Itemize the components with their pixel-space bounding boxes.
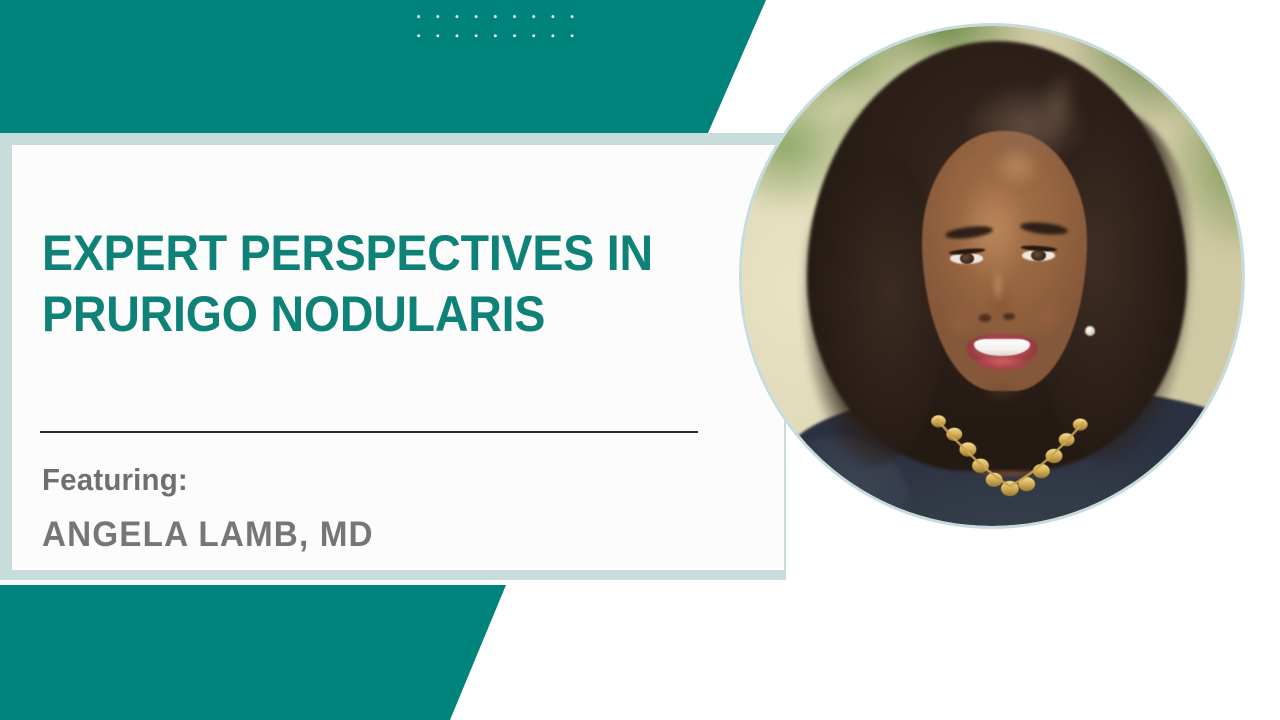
page-title: EXPERT PERSPECTIVES IN PRURIGO NODULARIS [42,223,693,345]
featuring-label: Featuring: [42,461,188,499]
speaker-name: ANGELA LAMB, MD [42,514,374,556]
title-card-inner: EXPERT PERSPECTIVES IN PRURIGO NODULARIS… [12,145,784,570]
teal-band-top [0,0,780,133]
teal-band-bottom [0,585,560,720]
portrait-earring [1085,326,1095,336]
portrait-nostril [1003,313,1015,321]
portrait-necklace [907,406,1117,526]
portrait-lower-lip [977,357,1027,370]
dot-grid-pattern-top-icon [409,7,574,50]
title-card: EXPERT PERSPECTIVES IN PRURIGO NODULARIS… [0,133,786,580]
portrait-iris [1031,250,1046,261]
portrait-iris [960,253,975,264]
portrait-cheek [1027,296,1072,341]
portrait-photo [742,26,1242,526]
portrait-nose-highlight [990,261,1006,311]
avatar [742,26,1242,526]
portrait-nostril [979,314,991,322]
portrait-chin [972,379,1032,404]
title-card-content: EXPERT PERSPECTIVES IN PRURIGO NODULARIS… [42,145,784,570]
title-divider [40,431,698,433]
slide-canvas: EXPERT PERSPECTIVES IN PRURIGO NODULARIS… [0,0,1280,720]
